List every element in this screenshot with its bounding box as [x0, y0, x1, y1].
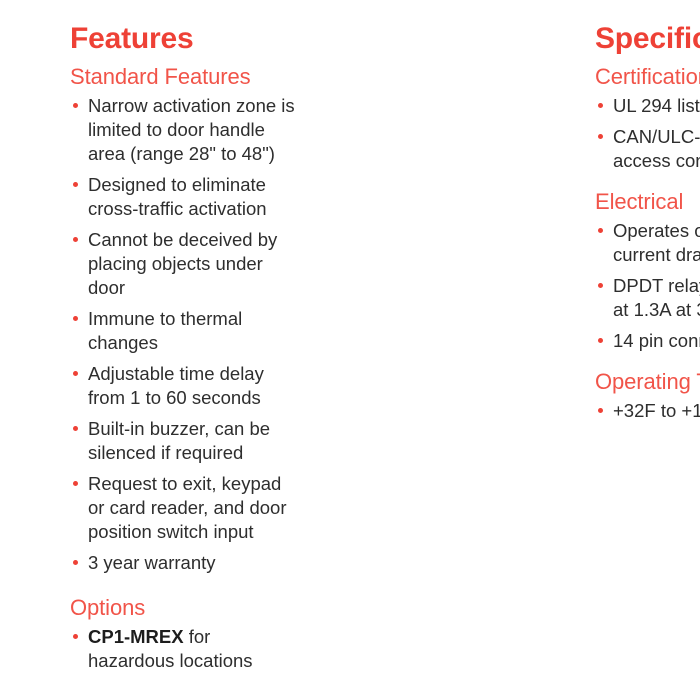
subheading-certifications-listings: Certifications & Listings: [595, 64, 700, 90]
bullet-dot-icon: [73, 237, 78, 242]
list-item-text: DPDT relay with 2A contacts; rated at 1.…: [613, 275, 700, 320]
list-item: DPDT relay with 2A contacts; rated at 1.…: [595, 274, 700, 322]
list-item-text: Adjustable time delay from 1 to 60 secon…: [88, 363, 264, 408]
bullet-dot-icon: [598, 228, 603, 233]
list-item-text: Cannot be deceived by placing objects un…: [88, 229, 277, 298]
subheading-operating-temperature: Operating Temperature: [595, 369, 700, 395]
list-item-text: 14 pin connector with 4 ft of cable: [613, 330, 700, 351]
page-title-specifications: Specifications: [595, 22, 700, 56]
list-item: Narrow activation zone is limited to doo…: [70, 94, 300, 166]
list-item: CAN/ULC-S319 listed as an access control…: [595, 125, 700, 173]
list-item: Operates on 12 or 24 VAC or VDC; current…: [595, 219, 700, 267]
list-item: Adjustable time delay from 1 to 60 secon…: [70, 362, 300, 410]
bullet-dot-icon: [73, 371, 78, 376]
options-list: CP1-MREX for hazardous locations: [70, 625, 300, 673]
spec-sheet-page: Features Standard Features Narrow activa…: [0, 0, 700, 700]
list-item-text: +32F to +120 F (0 to 49C): [613, 400, 700, 421]
list-item-text: Request to exit, keypad or card reader, …: [88, 473, 287, 542]
list-item: +32F to +120 F (0 to 49C): [595, 399, 700, 423]
bullet-dot-icon: [73, 103, 78, 108]
list-item-text: Designed to eliminate cross-traffic acti…: [88, 174, 267, 219]
subheading-options: Options: [70, 595, 300, 621]
operating-temperature-list: +32F to +120 F (0 to 49C): [595, 399, 700, 423]
bullet-dot-icon: [598, 283, 603, 288]
list-item: Designed to eliminate cross-traffic acti…: [70, 173, 300, 221]
list-item-text: CAN/ULC-S319 listed as an access control…: [613, 126, 700, 171]
certifications-list: UL 294 listed CAN/ULC-S319 listed as an …: [595, 94, 700, 173]
bullet-dot-icon: [598, 103, 603, 108]
list-item-text: UL 294 listed: [613, 95, 700, 116]
two-column-layout: Features Standard Features Narrow activa…: [0, 0, 700, 673]
bullet-dot-icon: [73, 316, 78, 321]
list-item-text: 3 year warranty: [88, 552, 216, 573]
list-item: Built-in buzzer, can be silenced if requ…: [70, 417, 300, 465]
bullet-dot-icon: [73, 481, 78, 486]
features-column: Features Standard Features Narrow activa…: [0, 22, 300, 673]
list-item: 3 year warranty: [70, 551, 300, 575]
list-item-text: Narrow activation zone is limited to doo…: [88, 95, 295, 164]
bullet-dot-icon: [73, 560, 78, 565]
subheading-electrical: Electrical: [595, 189, 700, 215]
list-item: UL 294 listed: [595, 94, 700, 118]
bullet-dot-icon: [73, 182, 78, 187]
list-item-text: Operates on 12 or 24 VAC or VDC; current…: [613, 220, 700, 265]
list-item-text: Built-in buzzer, can be silenced if requ…: [88, 418, 270, 463]
bullet-dot-icon: [598, 134, 603, 139]
bullet-dot-icon: [73, 426, 78, 431]
list-item: Immune to thermal changes: [70, 307, 300, 355]
list-item: 14 pin connector with 4 ft of cable: [595, 329, 700, 353]
bullet-dot-icon: [598, 338, 603, 343]
list-item: CP1-MREX for hazardous locations: [70, 625, 300, 673]
electrical-list: Operates on 12 or 24 VAC or VDC; current…: [595, 219, 700, 353]
list-item-text: Immune to thermal changes: [88, 308, 242, 353]
list-item: Cannot be deceived by placing objects un…: [70, 228, 300, 300]
bullet-dot-icon: [73, 634, 78, 639]
model-number-label: CP1-MREX: [88, 626, 184, 647]
bullet-dot-icon: [598, 408, 603, 413]
list-item: Request to exit, keypad or card reader, …: [70, 472, 300, 544]
